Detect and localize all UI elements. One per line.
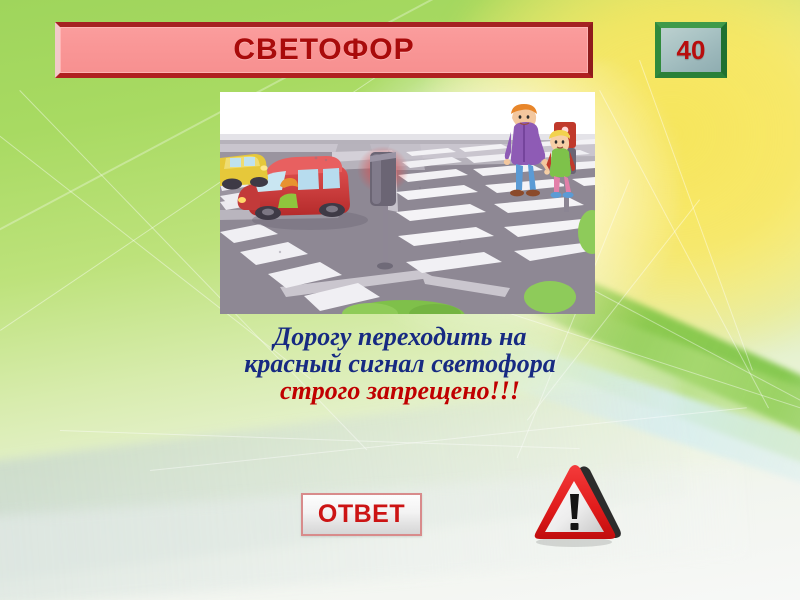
answer-line-2: красный сигнал светофора <box>150 351 650 378</box>
crosswalk-intersection-illustration <box>220 92 595 314</box>
answer-line-3: строго запрещено!!! <box>150 378 650 405</box>
page-title: СВЕТОФОР <box>233 33 414 67</box>
answer-line-1: Дорогу переходить на <box>150 324 650 351</box>
answer-text-block: Дорогу переходить на красный сигнал свет… <box>150 324 650 404</box>
answer-button[interactable]: ОТВЕТ <box>301 493 422 536</box>
slide-canvas: СВЕТОФОР 40 <box>0 0 800 600</box>
score-value: 40 <box>677 35 706 66</box>
score-badge[interactable]: 40 <box>655 22 727 78</box>
answer-button-label: ОТВЕТ <box>318 500 405 529</box>
slide-title-bar: СВЕТОФОР <box>55 22 593 78</box>
warning-triangle-icon[interactable] <box>528 462 624 556</box>
